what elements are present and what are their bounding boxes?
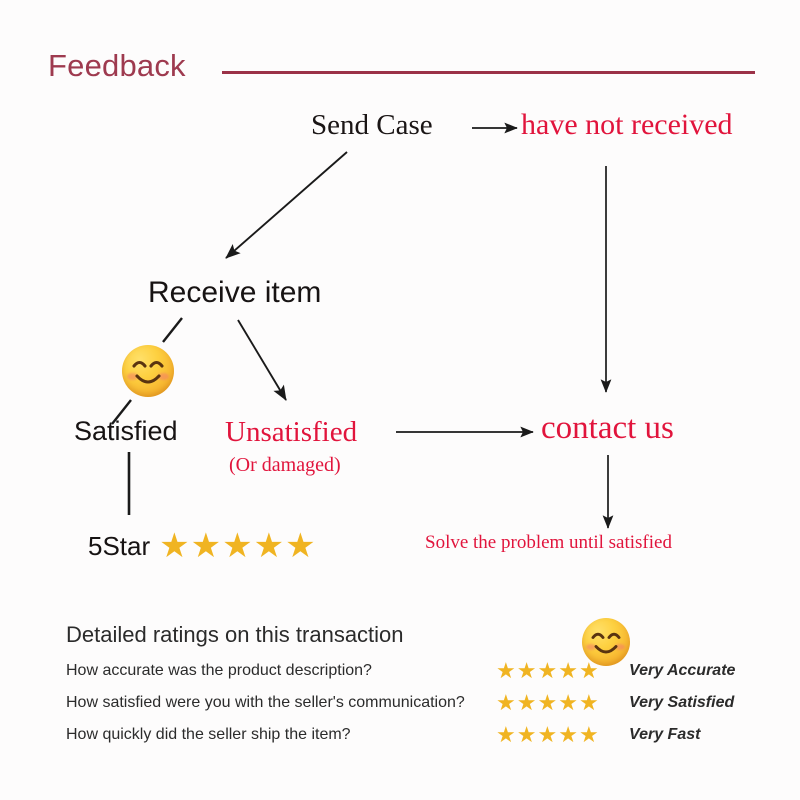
- five-star-row: 5Star ★★★★★: [88, 529, 317, 563]
- node-unsatisfied: Unsatisfied: [225, 418, 357, 447]
- rating-stars[interactable]: ★★★★★: [496, 724, 621, 746]
- rating-row: How satisfied were you with the seller's…: [66, 687, 766, 719]
- node-satisfied: Satisfied: [74, 418, 178, 445]
- rating-row: How accurate was the product description…: [66, 655, 766, 687]
- arrow-receiveitem-to-satisfied-upper: [163, 318, 182, 342]
- five-star-label: 5Star: [88, 531, 150, 562]
- feedback-infographic: Feedback Send Case have not received Rec…: [0, 0, 800, 800]
- rating-stars[interactable]: ★★★★★: [496, 692, 621, 714]
- node-or-damaged: (Or damaged): [229, 455, 341, 475]
- star-icon: ★: [537, 660, 557, 682]
- rating-question: How satisfied were you with the seller's…: [66, 694, 496, 712]
- node-have-not-received: have not received: [521, 110, 733, 140]
- star-icon: ★: [496, 692, 516, 714]
- star-icon: ★: [579, 692, 599, 714]
- ratings-list: How accurate was the product description…: [66, 655, 766, 751]
- star-icon: ★: [159, 529, 189, 563]
- node-send-case: Send Case: [311, 111, 433, 140]
- star-icon: ★: [517, 692, 537, 714]
- node-solve-problem: Solve the problem until satisfied: [425, 533, 672, 552]
- star-icon: ★: [537, 724, 557, 746]
- star-icon: ★: [579, 660, 599, 682]
- star-icon: ★: [285, 529, 315, 563]
- rating-label: Very Satisfied: [621, 694, 734, 712]
- arrow-receiveitem-to-unsatisfied: [238, 320, 286, 400]
- rating-question: How accurate was the product description…: [66, 662, 496, 680]
- page-title: Feedback: [48, 50, 186, 81]
- arrow-sendcase-to-receiveitem: [226, 152, 347, 258]
- rating-row: How quickly did the seller ship the item…: [66, 719, 766, 751]
- star-icon: ★: [254, 529, 284, 563]
- star-rating-five: ★★★★★: [159, 529, 316, 563]
- star-icon: ★: [579, 724, 599, 746]
- star-icon: ★: [517, 724, 537, 746]
- star-icon: ★: [558, 724, 578, 746]
- star-icon: ★: [496, 724, 516, 746]
- star-icon: ★: [558, 660, 578, 682]
- node-contact-us: contact us: [541, 412, 674, 445]
- star-icon: ★: [191, 529, 221, 563]
- star-icon: ★: [537, 692, 557, 714]
- star-icon: ★: [496, 660, 516, 682]
- rating-label: Very Accurate: [621, 662, 735, 680]
- rating-label: Very Fast: [621, 726, 700, 744]
- node-receive-item: Receive item: [148, 278, 321, 308]
- star-icon: ★: [517, 660, 537, 682]
- rating-question: How quickly did the seller ship the item…: [66, 726, 496, 744]
- smiling-face-icon: [122, 345, 174, 397]
- star-icon: ★: [222, 529, 252, 563]
- rating-stars[interactable]: ★★★★★: [496, 660, 621, 682]
- ratings-section-title: Detailed ratings on this transaction: [66, 622, 404, 648]
- star-icon: ★: [558, 692, 578, 714]
- title-divider: [222, 71, 755, 74]
